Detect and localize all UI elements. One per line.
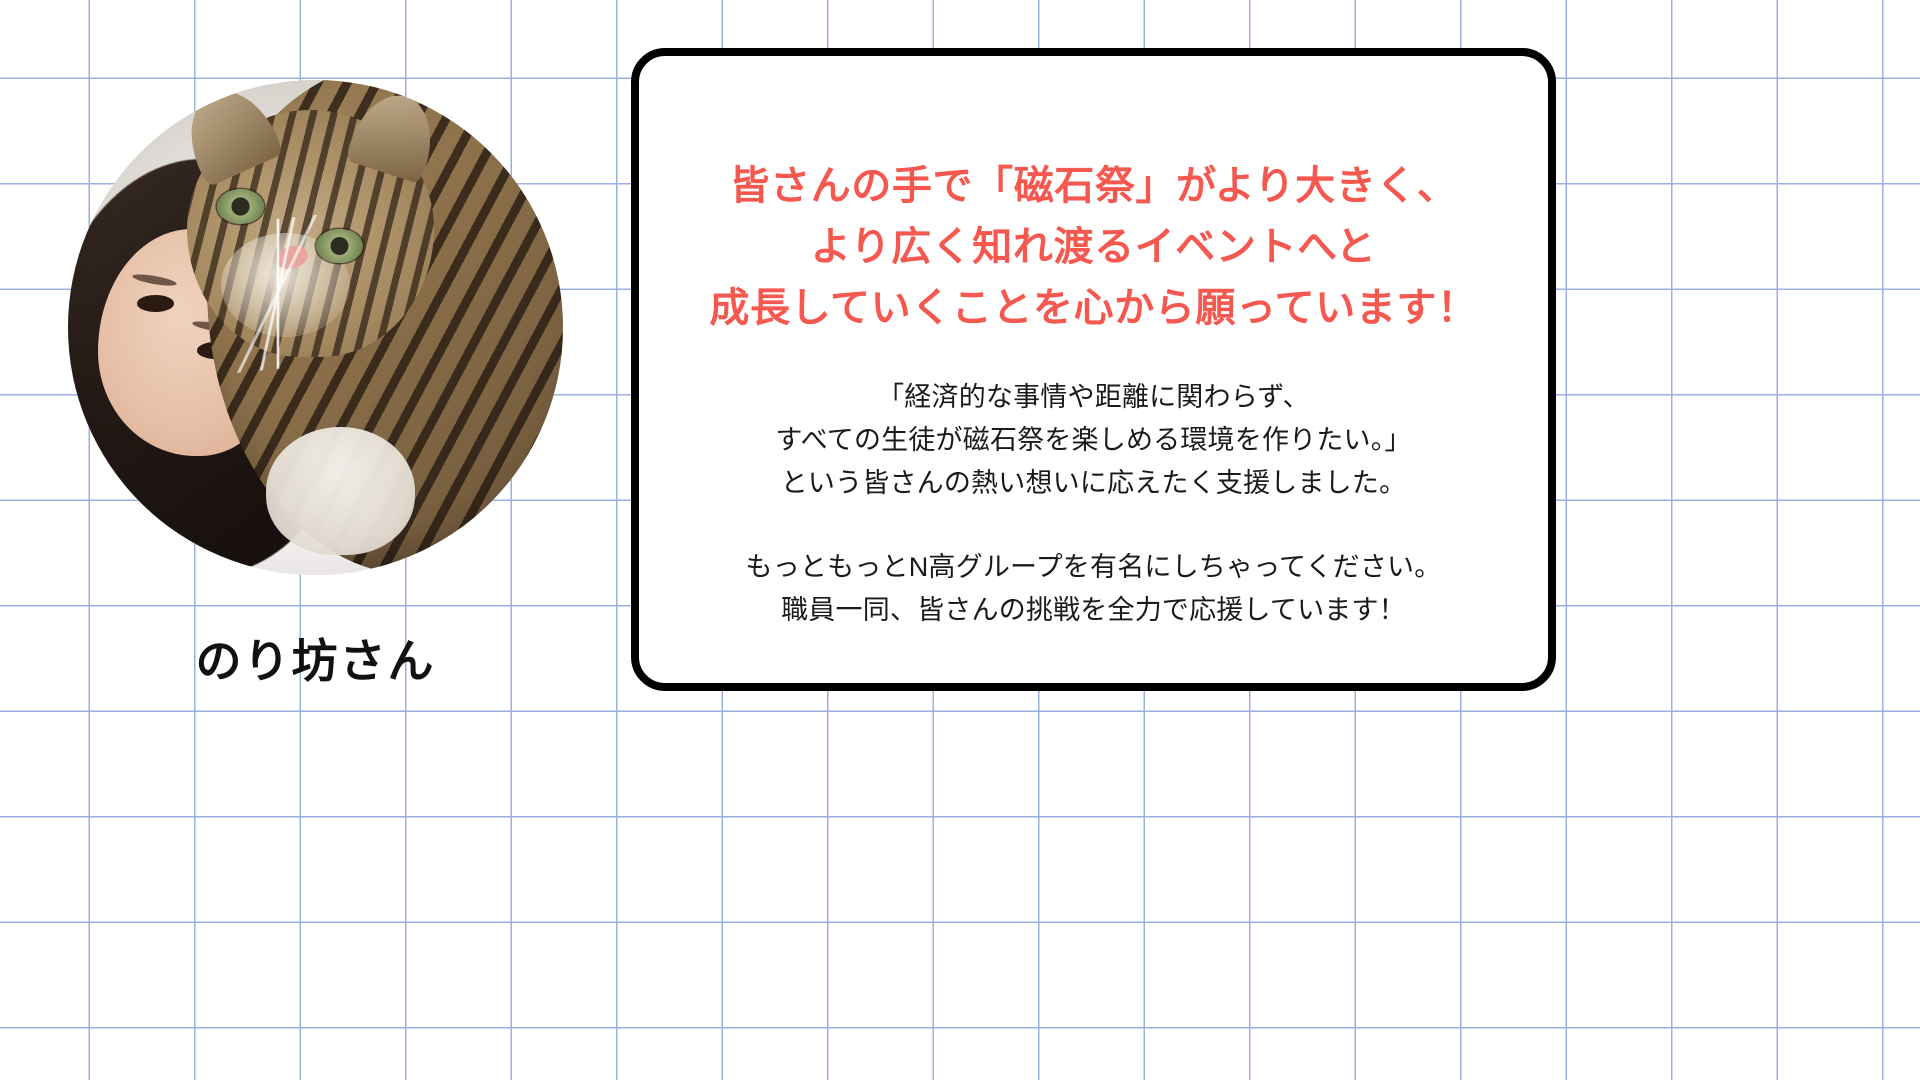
- card-paragraph-1-line-3: という皆さんの熱い想いに応えたく支援しました。: [673, 462, 1514, 505]
- card-paragraph-1-line-2: すべての生徒が磁石祭を楽しめる環境を作りたい。」: [673, 419, 1514, 462]
- card-paragraph-2: もっともっとN高グループを有名にしちゃってください。 職員一同、皆さんの挑戦を全…: [673, 546, 1514, 631]
- card-paragraph-1: 「経済的な事情や距離に関わらず、 すべての生徒が磁石祭を楽しめる環境を作りたい。…: [673, 376, 1514, 504]
- slide-canvas: のり坊さん 皆さんの手で「磁石祭」がより大きく、 より広く知れ渡るイベントへと …: [0, 0, 1920, 1080]
- avatar: [68, 80, 563, 575]
- card-heading-line-2: より広く知れ渡るイベントへと: [673, 217, 1514, 278]
- avatar-caption: のり坊さん: [68, 625, 563, 691]
- card-paragraph-1-line-1: 「経済的な事情や距離に関わらず、: [673, 376, 1514, 419]
- photo-vignette: [68, 80, 563, 575]
- card-heading: 皆さんの手で「磁石祭」がより大きく、 より広く知れ渡るイベントへと 成長していく…: [673, 156, 1514, 338]
- card-heading-line-1: 皆さんの手で「磁石祭」がより大きく、: [673, 156, 1514, 217]
- portrait-block: のり坊さん: [68, 80, 568, 840]
- card-heading-line-3: 成長していくことを心から願っています！: [673, 278, 1514, 339]
- card-paragraph-2-line-1: もっともっとN高グループを有名にしちゃってください。: [673, 546, 1514, 589]
- message-card: 皆さんの手で「磁石祭」がより大きく、 より広く知れ渡るイベントへと 成長していく…: [631, 48, 1556, 691]
- card-paragraph-2-line-2: 職員一同、皆さんの挑戦を全力で応援しています！: [673, 589, 1514, 632]
